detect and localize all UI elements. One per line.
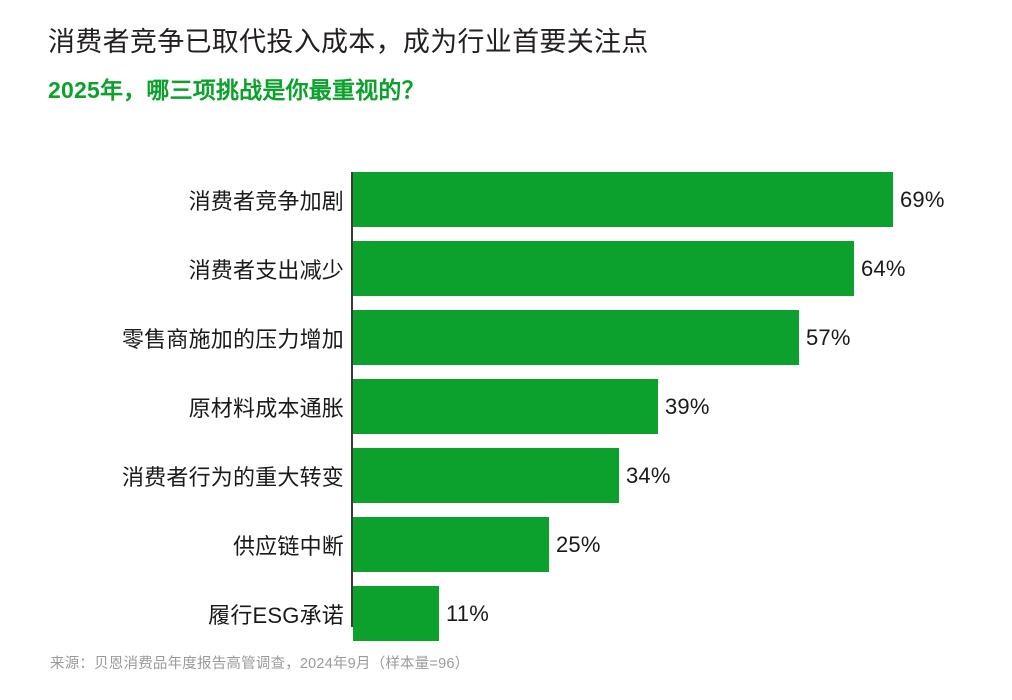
- chart-header: 消费者竞争已取代投入成本，成为行业首要关注点 2025年，哪三项挑战是你最重视的…: [48, 26, 988, 105]
- bar-row: 供应链中断25%: [0, 517, 1012, 572]
- bar-value-label: 39%: [658, 379, 710, 434]
- bar-value-label: 25%: [549, 517, 601, 572]
- bar-value-label: 64%: [854, 241, 906, 296]
- bar-chart-plot-area: 消费者竞争加剧69%消费者支出减少64%零售商施加的压力增加57%原材料成本通胀…: [0, 160, 1012, 640]
- bar-value-label: 57%: [799, 310, 851, 365]
- bar-category-label: 履行ESG承诺: [208, 586, 344, 641]
- bar-category-label: 供应链中断: [233, 517, 344, 572]
- bar-category-label: 消费者行为的重大转变: [122, 448, 344, 503]
- bar: [353, 241, 854, 296]
- bar: [353, 379, 658, 434]
- bar-row: 零售商施加的压力增加57%: [0, 310, 1012, 365]
- bar-category-label: 消费者竞争加剧: [189, 172, 344, 227]
- slide-root: 消费者竞争已取代投入成本，成为行业首要关注点 2025年，哪三项挑战是你最重视的…: [0, 0, 1012, 700]
- bar: [353, 310, 799, 365]
- bar-value-label: 34%: [619, 448, 671, 503]
- bar-row: 消费者支出减少64%: [0, 241, 1012, 296]
- bar: [353, 448, 619, 503]
- bar-value-label: 11%: [439, 586, 489, 641]
- bar-row: 消费者行为的重大转变34%: [0, 448, 1012, 503]
- source-note: 来源：贝恩消费品年度报告高管调查，2024年9月（样本量=96）: [50, 652, 469, 673]
- bar-value-label: 69%: [893, 172, 945, 227]
- bar-row: 消费者竞争加剧69%: [0, 172, 1012, 227]
- bar-category-label: 消费者支出减少: [189, 241, 344, 296]
- bar: [353, 586, 439, 641]
- bar-category-label: 零售商施加的压力增加: [122, 310, 344, 365]
- chart-subtitle: 2025年，哪三项挑战是你最重视的？: [48, 76, 988, 105]
- bar-row: 原材料成本通胀39%: [0, 379, 1012, 434]
- page-title: 消费者竞争已取代投入成本，成为行业首要关注点: [48, 26, 988, 60]
- bar-category-label: 原材料成本通胀: [189, 379, 344, 434]
- bar: [353, 172, 893, 227]
- bar-row: 履行ESG承诺11%: [0, 586, 1012, 641]
- bar: [353, 517, 549, 572]
